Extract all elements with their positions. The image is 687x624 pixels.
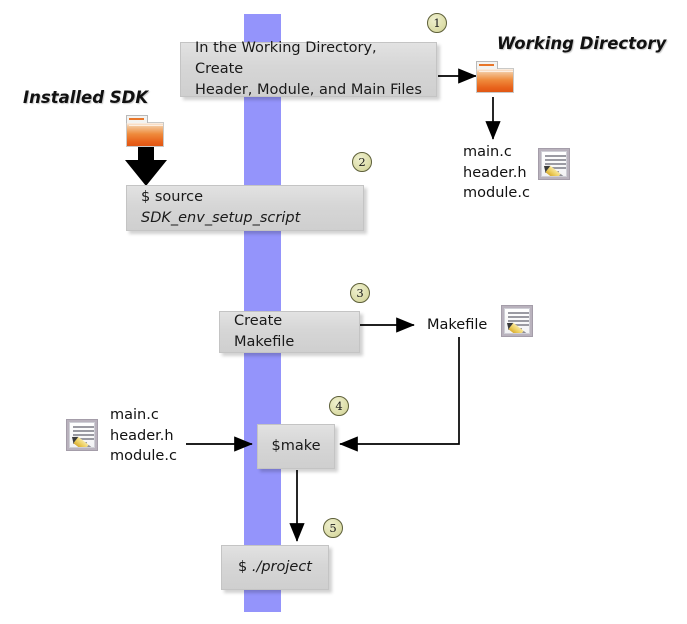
box-run-project[interactable]: $ ./project (221, 545, 329, 590)
box-create-files-line2: Header, Module, and Main Files (195, 80, 422, 101)
folder-tab-stripe (479, 64, 494, 66)
notepad-page (541, 151, 567, 177)
makefile-editor-icon (501, 305, 533, 337)
box-create-files[interactable]: In the Working Directory, Create Header,… (180, 42, 437, 97)
step-marker-1: 1 (427, 13, 447, 33)
notepad-line (545, 159, 566, 161)
pencil-eraser (522, 333, 530, 334)
notepad-line (73, 426, 94, 428)
run-command-name: ./project (252, 559, 312, 575)
makefile-label: Makefile (427, 315, 487, 336)
step-number: 4 (335, 399, 342, 413)
pencil-eraser (559, 176, 567, 177)
box-source-sdk-script[interactable]: $ source SDK_env_setup_script (126, 185, 364, 231)
notepad-line (73, 430, 94, 432)
pencil-icon (70, 434, 95, 448)
heading-installed-sdk: Installed SDK (23, 88, 148, 107)
box-create-makefile[interactable]: Create Makefile (219, 311, 360, 353)
folder-highlight (479, 71, 513, 72)
diagram-canvas: Installed SDK Working Directory 1 2 3 4 … (0, 0, 687, 624)
step-number: 2 (358, 155, 365, 169)
source-command-script: SDK_env_setup_script (141, 210, 300, 226)
heading-working-directory: Working Directory (497, 34, 666, 53)
box-create-makefile-label: Create Makefile (234, 311, 345, 353)
step-marker-3: 3 (350, 283, 370, 303)
notepad-line (508, 312, 529, 314)
step-marker-2: 2 (352, 152, 372, 172)
working-dir-file-list: main.c header.h module.c (463, 142, 530, 204)
working-dir-folder-icon (476, 61, 514, 93)
step-number: 3 (356, 286, 363, 300)
notepad-line (508, 316, 529, 318)
run-command-prefix: $ (238, 559, 252, 575)
folder-tab-stripe (129, 118, 144, 120)
source-file-list: main.c header.h module.c (110, 405, 177, 467)
pencil-icon (505, 320, 530, 334)
installed-sdk-folder-icon (126, 115, 164, 147)
folder-body (476, 68, 514, 93)
box-create-files-line1: In the Working Directory, Create (195, 38, 422, 80)
folder-body (126, 122, 164, 147)
notepad-page (504, 308, 530, 334)
step-number: 5 (329, 521, 336, 535)
step-marker-4: 4 (329, 396, 349, 416)
source-files-editor-icon (66, 419, 98, 451)
box-make-command-label: $make (271, 436, 320, 457)
notepad-line (545, 155, 566, 157)
source-command-prefix: $ source (141, 189, 203, 205)
pencil-eraser (87, 447, 95, 448)
folder-highlight (129, 125, 163, 126)
step-number: 1 (433, 16, 440, 30)
pencil-icon (542, 163, 567, 177)
step-marker-5: 5 (323, 518, 343, 538)
notepad-page (69, 422, 95, 448)
working-dir-editor-icon (538, 148, 570, 180)
box-make-command[interactable]: $make (257, 424, 335, 469)
